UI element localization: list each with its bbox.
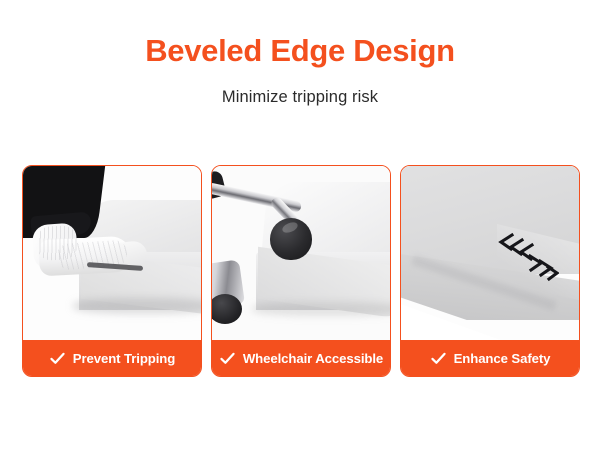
check-icon	[219, 350, 236, 367]
card-label-text-enhance-safety: Enhance Safety	[454, 351, 551, 366]
feature-card-enhance-safety[interactable]: Close-up of the grey beveled corner with…	[400, 165, 580, 377]
card-photo-enhance-safety: Close-up of the grey beveled corner with…	[401, 166, 579, 340]
card-label-bar-prevent-tripping: Prevent Tripping	[23, 340, 201, 376]
feature-card-wheelchair-accessible[interactable]: Chrome chair legs with black caster whee…	[211, 165, 391, 377]
card-photo-wheelchair-accessible: Chrome chair legs with black caster whee…	[212, 166, 390, 340]
page-title: Beveled Edge Design	[0, 34, 600, 68]
bevel-chevron-arrows-icon	[497, 232, 559, 286]
header: Beveled Edge Design Minimize tripping ri…	[0, 0, 600, 107]
page-subtitle: Minimize tripping risk	[0, 68, 600, 107]
card-label-bar-enhance-safety: Enhance Safety	[401, 340, 579, 376]
ramp-shadow	[73, 298, 201, 314]
feature-card-row: Foot in a white sock stepping over the b…	[22, 165, 580, 377]
card-label-bar-wheelchair-accessible: Wheelchair Accessible	[212, 340, 390, 376]
beveled-edge-design-banner: Beveled Edge Design Minimize tripping ri…	[0, 0, 600, 450]
card-label-text-prevent-tripping: Prevent Tripping	[73, 351, 175, 366]
check-icon	[430, 350, 447, 367]
check-icon	[49, 350, 66, 367]
feature-card-prevent-tripping[interactable]: Foot in a white sock stepping over the b…	[22, 165, 202, 377]
card-photo-prevent-tripping: Foot in a white sock stepping over the b…	[23, 166, 201, 340]
card-label-text-wheelchair-accessible: Wheelchair Accessible	[243, 351, 383, 366]
ramp-shadow	[252, 302, 390, 316]
